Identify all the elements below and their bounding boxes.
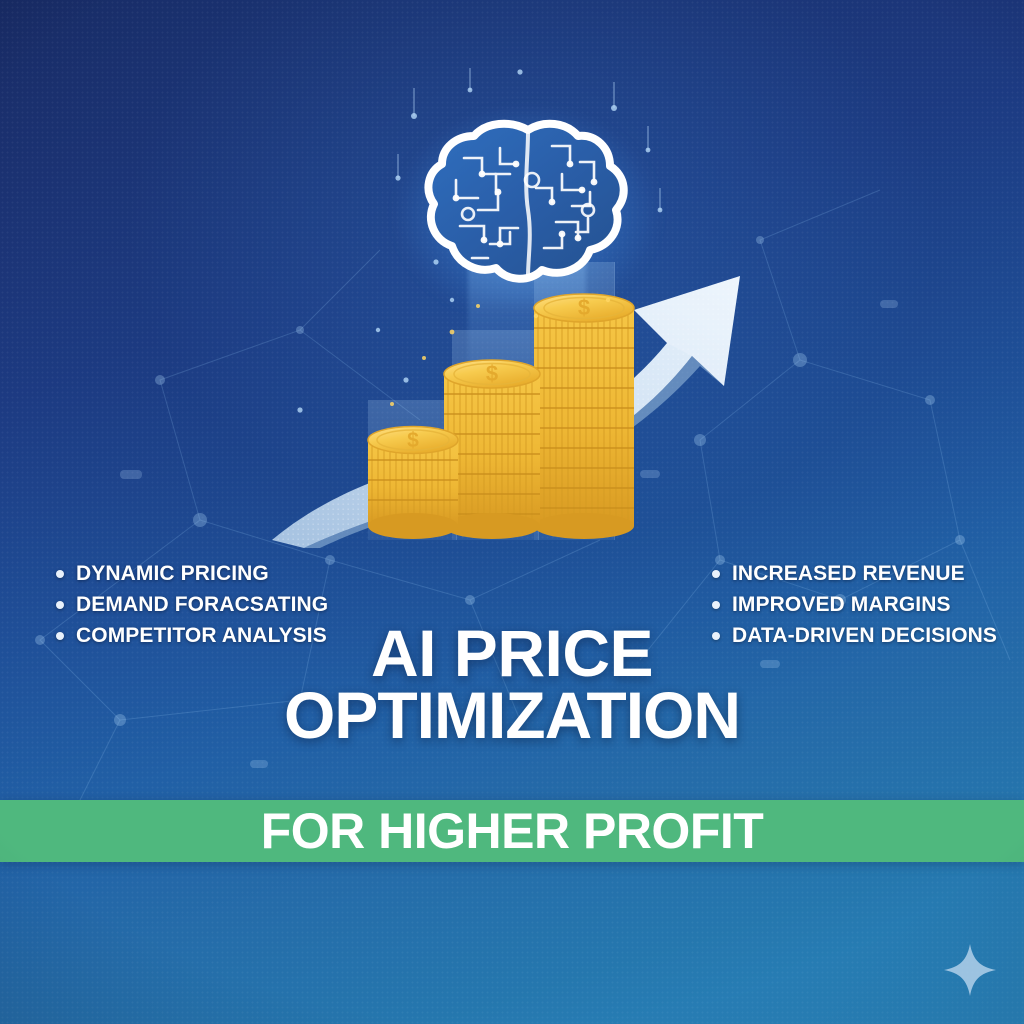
bullet-dot-icon xyxy=(56,570,64,578)
svg-text:$: $ xyxy=(578,295,590,320)
bullet-dot-icon xyxy=(712,570,720,578)
coin-stack-medium: $ xyxy=(444,360,540,539)
feature-label: DYNAMIC PRICING xyxy=(76,562,269,586)
tagline-banner: FOR HIGHER PROFIT xyxy=(0,800,1024,862)
infographic-poster: $ $ xyxy=(0,0,1024,1024)
sparkle-icon xyxy=(940,940,1000,1000)
page-title: AI PRICE OPTIMIZATION xyxy=(0,622,1024,746)
coin-stack-short: $ xyxy=(368,427,458,540)
svg-text:$: $ xyxy=(486,361,498,386)
bullet-dot-icon xyxy=(56,601,64,609)
headline-line-1: AI PRICE xyxy=(0,622,1024,684)
list-item[interactable]: IMPROVED MARGINS xyxy=(712,589,997,620)
list-item[interactable]: INCREASED REVENUE xyxy=(712,558,997,589)
benefit-label: INCREASED REVENUE xyxy=(732,562,965,586)
feature-label: DEMAND FORACSATING xyxy=(76,593,328,617)
bullet-dot-icon xyxy=(712,601,720,609)
benefit-label: IMPROVED MARGINS xyxy=(732,593,951,617)
coin-stacks-icon: $ $ xyxy=(352,268,642,553)
headline-line-2: OPTIMIZATION xyxy=(0,684,1024,746)
coin-stack-tall: $ xyxy=(534,294,634,539)
circuit-brain-icon xyxy=(412,118,644,293)
tagline-text: FOR HIGHER PROFIT xyxy=(261,806,764,856)
list-item[interactable]: DEMAND FORACSATING xyxy=(56,589,328,620)
list-item[interactable]: DYNAMIC PRICING xyxy=(56,558,328,589)
svg-text:$: $ xyxy=(407,429,419,452)
